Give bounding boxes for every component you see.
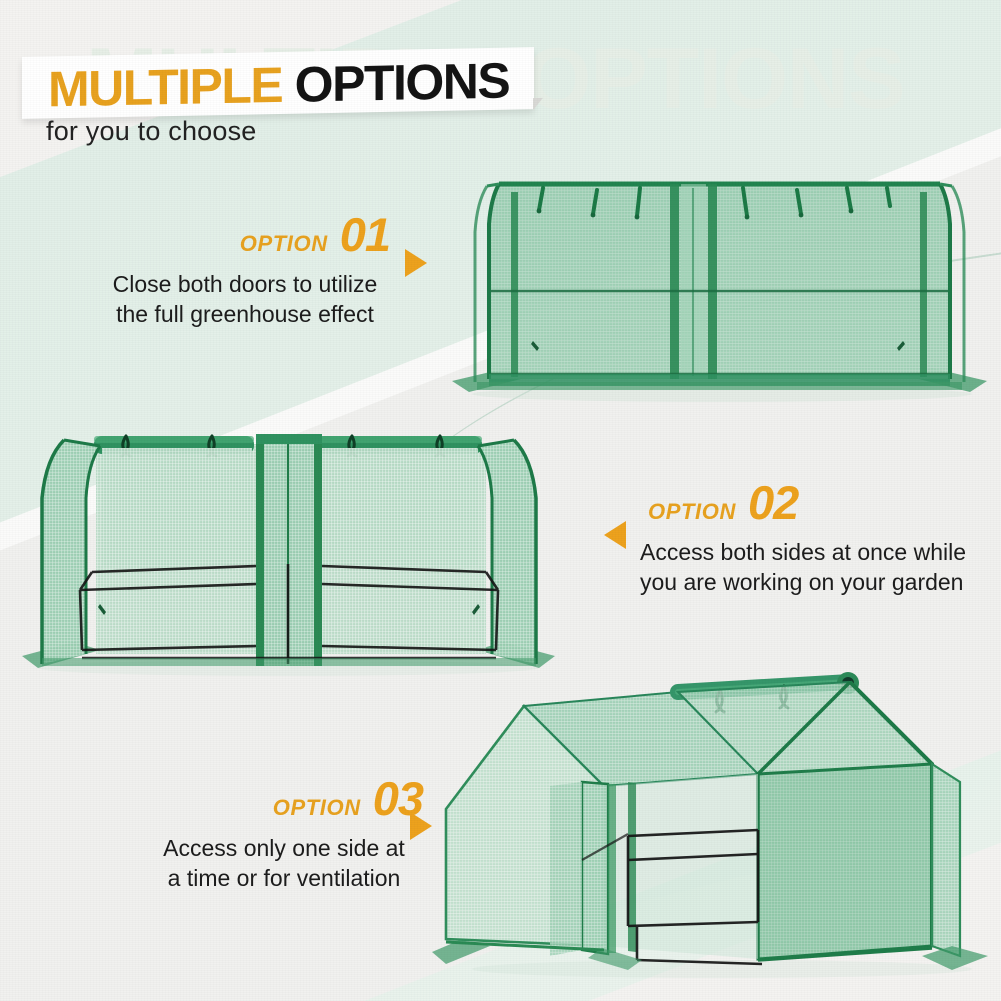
option-01-label: OPTION — [240, 231, 328, 257]
infographic-canvas: MULTIPLE OPTIONS MULTIPLE OPTIONS for yo… — [0, 0, 1001, 1001]
option-02-label: OPTION — [648, 499, 736, 525]
triangle-right-icon — [410, 812, 432, 840]
triangle-right-icon — [405, 249, 427, 277]
option-01-description: Close both doors to utilize the full gre… — [100, 269, 390, 329]
option-03-heading: OPTION 03 — [145, 778, 423, 821]
greenhouse-image-closed — [447, 136, 992, 406]
option-01-block: OPTION 01 Close both doors to utilize th… — [100, 214, 390, 329]
option-03-description: Access only one side at a time or for ve… — [145, 833, 423, 893]
greenhouse-image-both-open — [16, 406, 561, 678]
page-subtitle: for you to choose — [46, 116, 257, 147]
title-word-options: OPTIONS — [295, 53, 510, 113]
option-03-block: OPTION 03 Access only one side at a time… — [145, 778, 423, 893]
option-01-heading: OPTION 01 — [100, 214, 390, 257]
option-01-number: 01 — [340, 214, 390, 256]
triangle-left-icon — [604, 521, 626, 549]
option-02-number: 02 — [748, 482, 798, 524]
greenhouse-image-one-open — [432, 664, 992, 984]
page-title: MULTIPLE OPTIONS — [48, 52, 509, 119]
option-03-label: OPTION — [273, 795, 361, 821]
option-02-heading: OPTION 02 — [640, 482, 970, 525]
option-02-description: Access both sides at once while you are … — [640, 537, 970, 597]
option-02-block: OPTION 02 Access both sides at once whil… — [640, 482, 970, 597]
title-word-multiple: MULTIPLE — [48, 57, 282, 117]
